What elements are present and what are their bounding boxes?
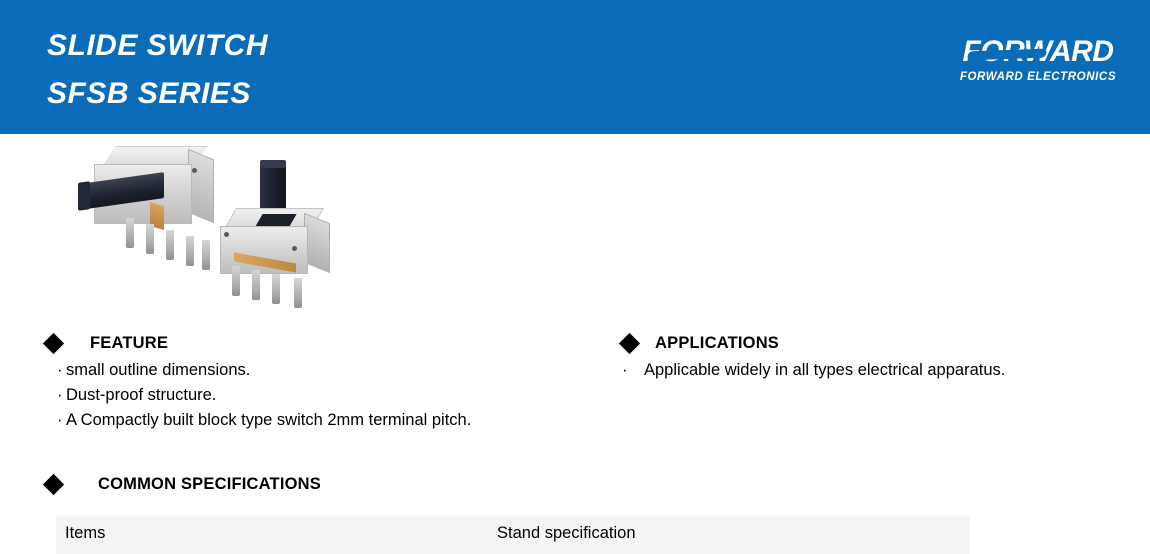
feature-section-heading: FEATURE xyxy=(46,334,168,353)
switch-pin xyxy=(294,278,302,308)
applications-section-heading: APPLICATIONS xyxy=(622,334,779,353)
applications-list: ·Applicable widely in all types electric… xyxy=(622,358,1005,383)
switch-rivet xyxy=(192,168,197,173)
feature-item-text: A Compactly built block type switch 2mm … xyxy=(66,411,471,429)
feature-list: ·small outline dimensions. ·Dust-proof s… xyxy=(57,358,471,433)
switch-pin xyxy=(126,218,134,248)
list-item: ·small outline dimensions. xyxy=(57,358,471,383)
specifications-table: Items Stand specification xyxy=(56,514,970,554)
specifications-heading-label: COMMON SPECIFICATIONS xyxy=(98,475,321,494)
applications-heading-label: APPLICATIONS xyxy=(655,334,779,353)
company-logo: FORWARD FORWARD ELECTRONICS xyxy=(958,36,1118,84)
column-header-items: Items xyxy=(56,515,488,554)
switch-pin xyxy=(272,274,280,304)
switch-rivet xyxy=(292,246,297,251)
diamond-bullet-icon xyxy=(619,333,640,354)
switch-pin xyxy=(202,240,210,270)
feature-item-text: Dust-proof structure. xyxy=(66,386,216,404)
diamond-bullet-icon xyxy=(43,333,64,354)
column-header-stand-specification: Stand specification xyxy=(488,515,970,554)
product-photo-group xyxy=(70,140,390,310)
page-header-banner: SLIDE SWITCH SFSB SERIES FORWARD FORWARD… xyxy=(0,0,1150,134)
switch-pin xyxy=(186,236,194,266)
diamond-bullet-icon xyxy=(43,474,64,495)
bullet-dot-icon: · xyxy=(622,358,644,383)
feature-item-text: small outline dimensions. xyxy=(66,361,250,379)
logo-wordmark-label: FORWARD xyxy=(963,35,1114,68)
list-item: ·A Compactly built block type switch 2mm… xyxy=(57,408,471,433)
list-item: ·Dust-proof structure. xyxy=(57,383,471,408)
table-header-row: Items Stand specification xyxy=(56,515,970,554)
switch-pin xyxy=(146,224,154,254)
list-item: ·Applicable widely in all types electric… xyxy=(622,358,1005,383)
switch-pin xyxy=(232,266,240,296)
switch-lever-cap xyxy=(260,160,286,168)
page-title-line-2: SFSB SERIES xyxy=(47,70,268,118)
specifications-section-heading: COMMON SPECIFICATIONS xyxy=(46,475,321,494)
feature-heading-label: FEATURE xyxy=(90,334,168,353)
page-title-line-1: SLIDE SWITCH xyxy=(47,22,268,70)
bullet-dot-icon: · xyxy=(57,408,66,433)
logo-wordmark-text: FORWARD xyxy=(958,36,1118,68)
bullet-dot-icon: · xyxy=(57,383,66,408)
switch-lever-cap xyxy=(78,181,90,211)
switch-pin xyxy=(166,230,174,260)
logo-subtitle: FORWARD ELECTRONICS xyxy=(958,70,1118,84)
switch-pin xyxy=(252,270,260,300)
switch-rivet xyxy=(224,232,229,237)
applications-item-text: Applicable widely in all types electrica… xyxy=(644,361,1005,379)
bullet-dot-icon: · xyxy=(57,358,66,383)
page-title-group: SLIDE SWITCH SFSB SERIES xyxy=(47,22,268,118)
